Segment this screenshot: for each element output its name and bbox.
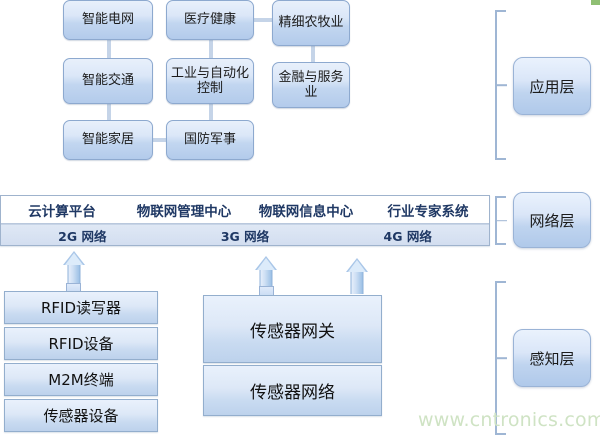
- node-label: 智能交通: [82, 74, 134, 89]
- layer-label-text: 网络层: [529, 210, 574, 231]
- device-rfid-equipment[interactable]: RFID设备: [4, 327, 158, 360]
- node-national-defense[interactable]: 国防军事: [166, 120, 254, 160]
- node-smart-transport[interactable]: 智能交通: [63, 58, 153, 104]
- node-label: 精细农牧业: [278, 15, 343, 30]
- sensor-label: 传感器网络: [250, 378, 335, 403]
- node-label: 智能家居: [82, 133, 134, 148]
- site-watermark: www.cntronics.com: [418, 409, 600, 431]
- connector-agri-finance: [311, 46, 315, 62]
- network-layer-band: 云计算平台 物联网管理中心 物联网信息中心 行业专家系统 2G 网络 3G 网络…: [0, 195, 490, 246]
- connector-grid-transport: [107, 38, 111, 58]
- node-medical-health[interactable]: 医疗健康: [166, 0, 254, 40]
- bracket-application-layer: [489, 10, 508, 160]
- device-label: M2M终端: [48, 369, 113, 390]
- uplink-arrow-left: [62, 251, 86, 287]
- connector-medical-industrial: [209, 38, 213, 58]
- node-precision-agriculture[interactable]: 精细农牧业: [272, 0, 350, 46]
- network-2g[interactable]: 2G 网络: [1, 226, 164, 245]
- layer-label-perception[interactable]: 感知层: [513, 329, 591, 387]
- node-smart-grid[interactable]: 智能电网: [63, 0, 153, 40]
- platform-cloud-computing[interactable]: 云计算平台: [1, 200, 123, 220]
- platform-iot-information[interactable]: 物联网信息中心: [245, 200, 367, 220]
- network-platform-row: 云计算平台 物联网管理中心 物联网信息中心 行业专家系统: [1, 196, 489, 224]
- device-rfid-reader[interactable]: RFID读写器: [4, 291, 158, 324]
- node-smart-home[interactable]: 智能家居: [63, 120, 153, 160]
- node-label: 金融与服务业: [276, 70, 346, 101]
- node-label: 工业与自动化控制: [170, 66, 250, 97]
- platform-iot-management[interactable]: 物联网管理中心: [123, 200, 245, 220]
- layer-label-network[interactable]: 网络层: [513, 192, 591, 248]
- device-sensor-equipment[interactable]: 传感器设备: [4, 399, 158, 432]
- sensor-gateway[interactable]: 传感器网关: [203, 295, 382, 363]
- node-label: 医疗健康: [184, 13, 236, 28]
- layer-label-application[interactable]: 应用层: [513, 57, 591, 115]
- bracket-network-layer: [489, 196, 508, 245]
- network-bearer-row: 2G 网络 3G 网络 4G 网络: [1, 224, 489, 245]
- device-label: RFID设备: [48, 333, 113, 354]
- uplink-arrow-right: [345, 258, 369, 294]
- device-label: 传感器设备: [43, 405, 118, 426]
- node-finance-service[interactable]: 金融与服务业: [272, 62, 350, 108]
- network-3g[interactable]: 3G 网络: [164, 226, 327, 245]
- layer-label-text: 应用层: [529, 76, 574, 97]
- diagram-canvas: 智能电网 智能交通 智能家居 医疗健康 工业与自动化控制 国防军事 精细农牧业 …: [0, 0, 600, 442]
- platform-industry-expert[interactable]: 行业专家系统: [367, 200, 489, 220]
- network-4g[interactable]: 4G 网络: [326, 226, 489, 245]
- node-label: 智能电网: [82, 13, 134, 28]
- device-label: RFID读写器: [41, 297, 121, 318]
- device-m2m-terminal[interactable]: M2M终端: [4, 363, 158, 396]
- layer-label-text: 感知层: [529, 348, 574, 369]
- sensor-network[interactable]: 传感器网络: [203, 365, 382, 416]
- decorative-speck: [591, 0, 600, 5]
- node-industrial-automation[interactable]: 工业与自动化控制: [166, 58, 254, 104]
- sensor-label: 传感器网关: [250, 317, 335, 342]
- node-label: 国防军事: [184, 133, 236, 148]
